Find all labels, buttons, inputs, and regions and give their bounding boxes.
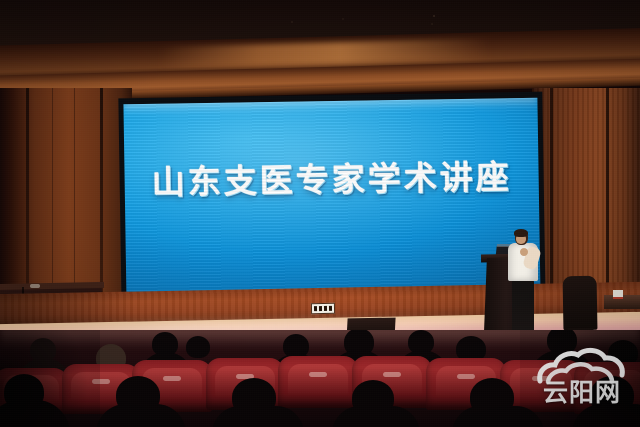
audience-seat: [278, 356, 358, 408]
side-table-item: [613, 290, 623, 299]
led-screen: 山东支医专家学术讲座: [123, 98, 540, 306]
stage-apron-sign: [311, 303, 335, 314]
screen-vignette: [123, 98, 540, 306]
presenter-hand: [520, 248, 528, 256]
stage-side-chair: [563, 276, 598, 331]
presenter-hair: [514, 229, 528, 237]
audience-shadow-right: [520, 330, 640, 427]
audience-shoulders: [332, 406, 420, 427]
audience-head: [186, 336, 210, 358]
auditorium-photo: 山东支医专家学术讲座: [0, 0, 640, 427]
audience-shoulders: [212, 406, 304, 427]
presenter-legs: [512, 279, 534, 331]
audience-shadow-left: [0, 330, 100, 427]
wall-panel-left: [0, 88, 132, 303]
audience-area: [0, 330, 640, 427]
console-knob: [30, 284, 40, 288]
presenter: [506, 230, 542, 332]
slide-title-text: 山东支医专家学术讲座: [124, 160, 538, 199]
screen-scanlines: [123, 98, 540, 306]
